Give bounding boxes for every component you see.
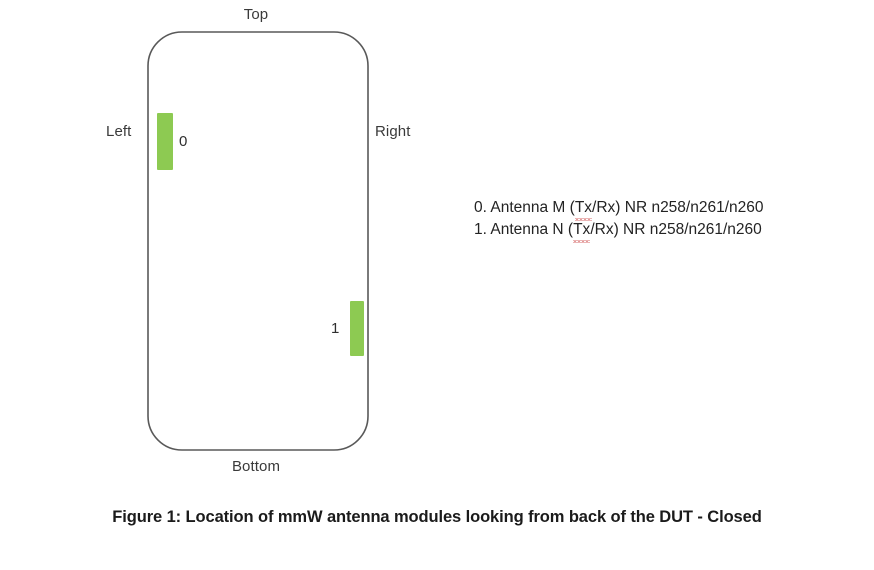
figure-caption: Figure 1: Location of mmW antenna module… — [0, 508, 874, 527]
edge-label-top: Top — [0, 6, 512, 23]
legend-line-0: 0. Antenna M (Tx/Rx) NR n258/n261/n260 — [474, 197, 764, 219]
figure-diagram: Top Bottom Left Right 0 1 0. Antenna M (… — [0, 0, 874, 570]
legend-line-1: 1. Antenna N (Tx/Rx) NR n258/n261/n260 — [474, 219, 764, 241]
legend-line-0-suffix: /Rx) NR n258/n261/n260 — [592, 199, 763, 216]
antenna-index-label-1: 1 — [331, 320, 339, 337]
edge-label-bottom: Bottom — [0, 458, 512, 475]
antenna-module-0 — [157, 113, 173, 170]
legend-line-0-prefix: 0. Antenna M ( — [474, 199, 575, 216]
device-outline — [140, 24, 376, 460]
legend-line-1-prefix: 1. Antenna N ( — [474, 221, 573, 238]
antenna-index-label-0: 0 — [179, 133, 187, 150]
legend-line-0-spellcheck-word: Tx — [575, 197, 592, 219]
antenna-module-1 — [350, 301, 364, 356]
edge-label-right: Right — [375, 123, 411, 140]
edge-label-left: Left — [106, 123, 131, 140]
legend-line-1-spellcheck-word: Tx — [573, 219, 590, 241]
antenna-legend: 0. Antenna M (Tx/Rx) NR n258/n261/n260 1… — [474, 197, 764, 241]
legend-line-1-suffix: /Rx) NR n258/n261/n260 — [590, 221, 761, 238]
